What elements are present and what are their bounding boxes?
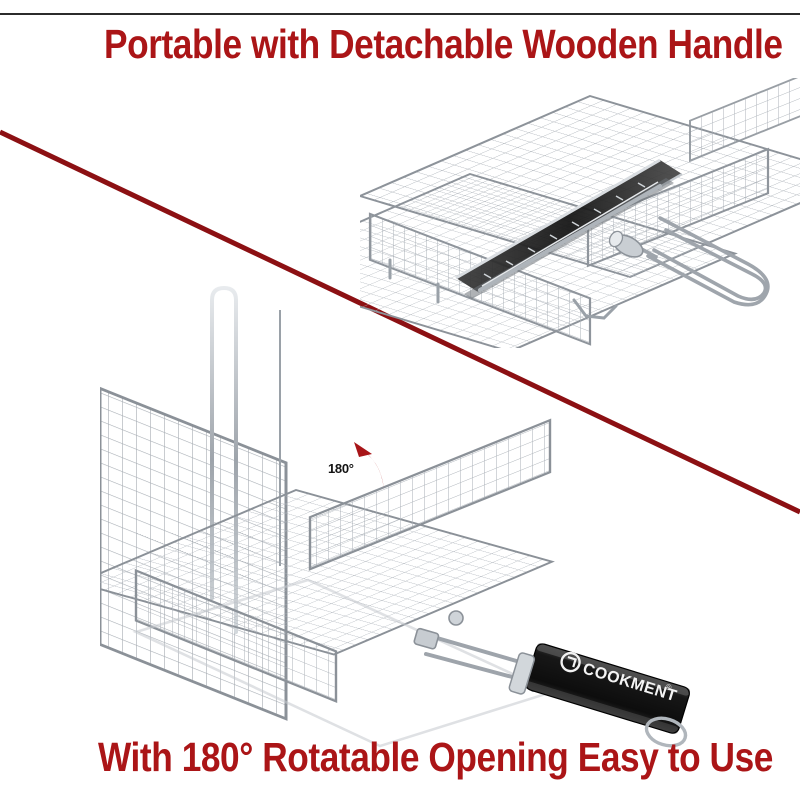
rotation-arrow-icon [350, 440, 408, 496]
rotation-arrow-head [354, 442, 372, 457]
top-border-rule [0, 13, 800, 15]
headline-bottom: With 180° Rotatable Opening Easy to Use [98, 733, 773, 781]
product-image-bottom: COOKMENT ® [100, 280, 720, 750]
rotation-callout: 180° [328, 440, 408, 496]
product-feature-image: COOKMENT ® 180° Portable with Detachable… [0, 0, 800, 800]
headline-top: Portable with Detachable Wooden Handle [104, 20, 783, 68]
rotation-arrow-curve [361, 450, 384, 490]
